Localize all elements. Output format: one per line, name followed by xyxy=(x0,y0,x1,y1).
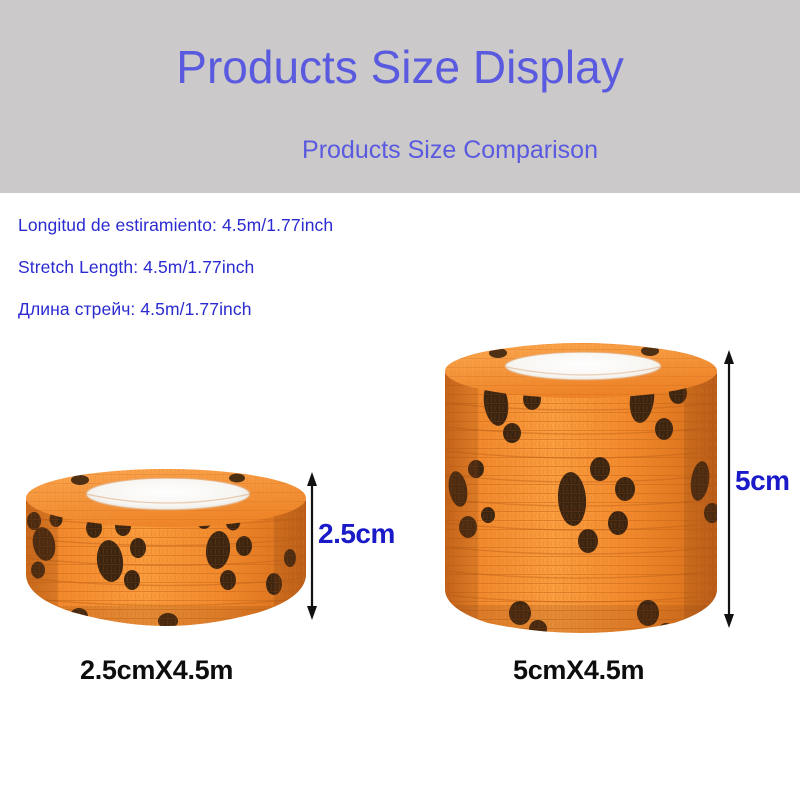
spec-line-spanish: Longitud de estiramiento: 4.5m/1.77inch xyxy=(18,215,518,236)
specification-list: Longitud de estiramiento: 4.5m/1.77inch … xyxy=(18,215,518,341)
dimension-label-small-roll: 2.5cm xyxy=(318,518,395,550)
dimension-label-large-roll: 5cm xyxy=(735,465,790,497)
page-subtitle: Products Size Comparison xyxy=(0,136,800,165)
product-image-small-roll xyxy=(22,466,310,630)
page-title: Products Size Display xyxy=(0,40,800,94)
product-caption-small-roll: 2.5cmX4.5m xyxy=(80,655,233,686)
product-image-large-roll xyxy=(442,341,720,635)
spec-line-english: Stretch Length: 4.5m/1.77inch xyxy=(18,257,518,278)
product-caption-large-roll: 5cmX4.5m xyxy=(513,655,644,686)
spec-line-russian: Длина стрейч: 4.5m/1.77inch xyxy=(18,299,518,320)
